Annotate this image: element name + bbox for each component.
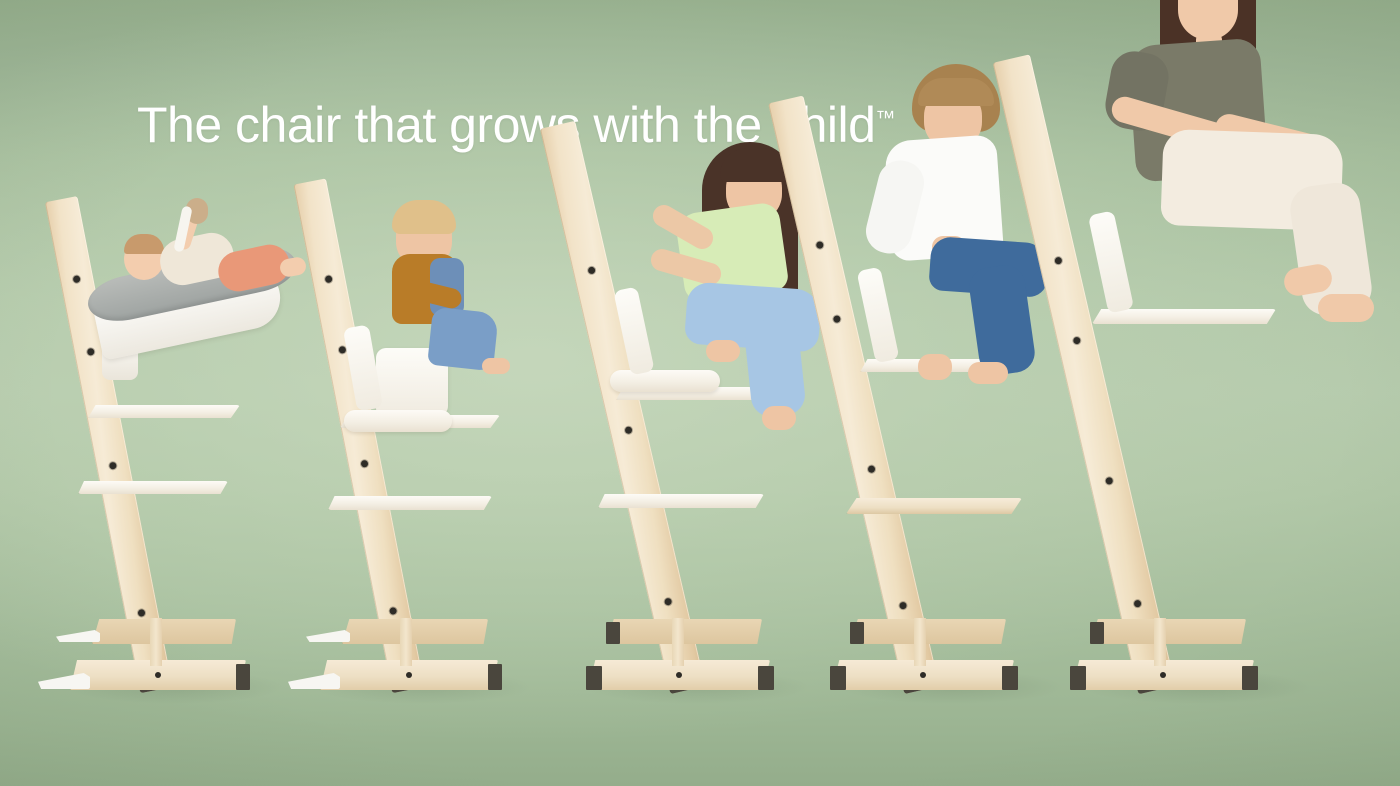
chair-1-base-strut	[150, 618, 162, 666]
adult-foot-left	[1318, 294, 1374, 322]
bolt	[155, 672, 161, 678]
bolt	[73, 275, 81, 283]
chair-2-runner-tip	[488, 664, 502, 690]
bolt	[898, 602, 906, 610]
girl-foot	[762, 406, 796, 430]
girl-lower-leg	[743, 317, 807, 418]
chair-5-upper-tip	[1090, 622, 1104, 644]
bolt	[920, 672, 926, 678]
bolt	[1105, 477, 1113, 485]
bolt	[676, 672, 682, 678]
bolt	[832, 315, 840, 323]
chair-3-runner-tip	[758, 666, 774, 690]
chair-5-upper-base-bar	[1090, 619, 1246, 644]
chair-2-glide-front	[288, 673, 340, 689]
chair-2-occupant-toddler	[346, 200, 506, 390]
chair-1-occupant-baby	[102, 222, 312, 322]
chair-1-seat-plate	[88, 405, 240, 418]
bolt	[406, 672, 412, 678]
bolt	[360, 460, 368, 468]
bolt	[663, 598, 671, 606]
chair-4-footrest	[846, 498, 1022, 514]
chair-2-base-strut	[400, 618, 412, 666]
bolt	[137, 609, 145, 617]
chair-3-footrest	[598, 494, 764, 508]
bolt	[815, 241, 823, 249]
bolt	[1054, 257, 1062, 265]
bolt	[867, 465, 875, 473]
bolt	[389, 607, 397, 615]
chair-5-base-strut	[1154, 618, 1166, 666]
chair-2-toddler[interactable]	[288, 70, 538, 690]
chair-5-glide-front	[1070, 666, 1086, 690]
chair-1-runner-tip	[236, 664, 250, 690]
chair-1-newborn[interactable]	[44, 90, 294, 690]
chair-5-occupant-adult	[1074, 0, 1384, 328]
chair-5-runner-tip	[1242, 666, 1258, 690]
chair-2-footrest	[328, 496, 492, 510]
chair-2-glide-upper	[306, 630, 350, 642]
chair-4-glide-front	[830, 666, 846, 690]
toddler-foot	[482, 358, 510, 374]
girl-foot-2	[706, 340, 740, 362]
chair-3-upper-tip	[606, 622, 620, 644]
chair-5-adult[interactable]	[1070, 0, 1400, 690]
hero-banner: The chair that grows with the child™	[0, 0, 1400, 786]
bolt	[325, 275, 333, 283]
bolt	[87, 348, 95, 356]
bolt	[1133, 600, 1141, 608]
boy-foot-right	[918, 354, 952, 380]
boy-fringe	[918, 78, 994, 106]
chair-1-glide-front	[38, 673, 90, 689]
chair-1-upper-base-bar	[92, 619, 236, 644]
chair-2-upper-base-bar	[342, 619, 488, 644]
bolt	[624, 426, 632, 434]
chair-2-cushion	[344, 410, 452, 432]
chair-3-base-strut	[672, 618, 684, 666]
chair-4-upper-base-bar	[850, 619, 1006, 644]
chair-1-footrest	[78, 481, 228, 494]
bolt	[1160, 672, 1166, 678]
chair-4-upper-tip	[850, 622, 864, 644]
chair-3-upper-base-bar	[606, 619, 762, 644]
bolt	[587, 266, 595, 274]
chair-3-glide-front	[586, 666, 602, 690]
baby-hair	[124, 234, 164, 254]
bolt	[1072, 336, 1080, 344]
chair-4-runner-tip	[1002, 666, 1018, 690]
chair-1-glide-upper	[56, 630, 100, 642]
chair-4-base-strut	[914, 618, 926, 666]
bolt	[109, 462, 117, 470]
boy-foot-left	[968, 362, 1008, 384]
toddler-hair	[392, 200, 456, 234]
